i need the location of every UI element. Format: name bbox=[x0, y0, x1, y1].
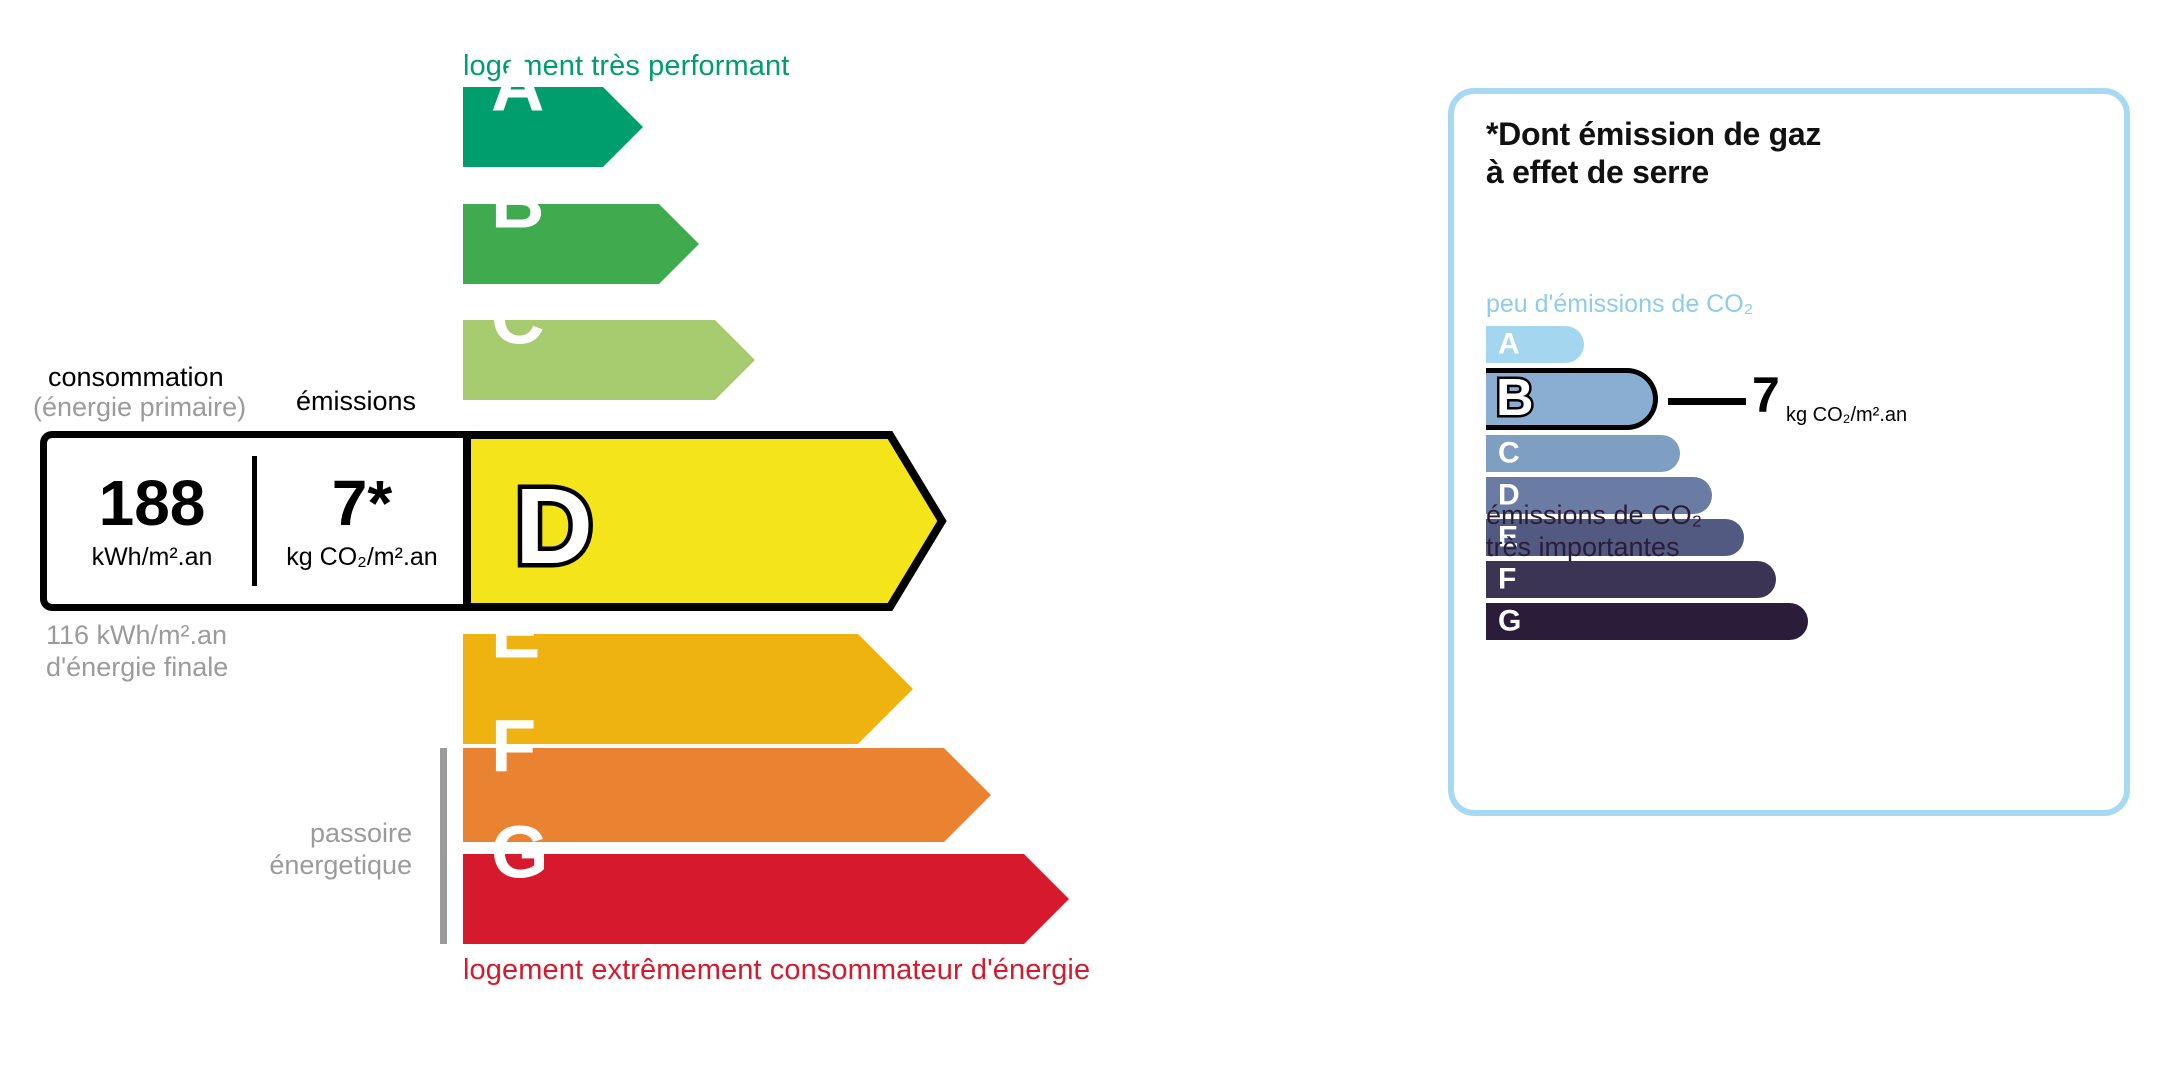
consumption-unit: kWh/m².an bbox=[92, 543, 213, 572]
co2-letter-g: G bbox=[1498, 606, 1521, 636]
consumption-label: consommation bbox=[48, 362, 224, 393]
emissions-unit: kg CO₂/m².an bbox=[286, 543, 437, 572]
primary-energy-label: (énergie primaire) bbox=[33, 392, 246, 423]
co2-title-line1: *Dont émission de gaz bbox=[1486, 116, 1821, 154]
band-d-arrow-shape: D bbox=[463, 431, 950, 611]
band-a-arrow-shape bbox=[463, 87, 643, 167]
band-a-letter: A bbox=[491, 49, 544, 123]
co2-letter-f: F bbox=[1498, 564, 1516, 594]
emissions-value: 7* bbox=[332, 471, 393, 535]
co2-value: 7 bbox=[1752, 370, 1780, 420]
band-g-letter: G bbox=[491, 816, 549, 890]
final-energy-line2: d'énergie finale bbox=[46, 652, 228, 684]
passoire-label-line2: énergetique bbox=[0, 850, 412, 882]
co2-bar-g bbox=[1486, 603, 1808, 640]
co2-value-unit: kg CO₂/m².an bbox=[1786, 404, 1907, 427]
consumption-value-cell: 188 kWh/m².an bbox=[47, 438, 257, 604]
emissions-label: émissions bbox=[296, 386, 416, 417]
co2-bottom-caption: émissions de CO₂ très importantes bbox=[1486, 500, 1702, 564]
energy-performance-scale: logement très performant A B C E F bbox=[0, 0, 1400, 1079]
selected-class-row: 188 kWh/m².an 7* kg CO₂/m².an D bbox=[40, 431, 950, 611]
co2-top-caption: peu d'émissions de CO₂ bbox=[1486, 290, 1753, 319]
final-energy-note: 116 kWh/m².an d'énergie finale bbox=[46, 620, 228, 684]
co2-letter-c: C bbox=[1498, 438, 1520, 468]
band-b-letter: B bbox=[491, 166, 544, 240]
band-f-letter: F bbox=[491, 710, 536, 784]
consumption-value: 188 bbox=[99, 471, 206, 535]
co2-emissions-panel: *Dont émission de gaz à effet de serre p… bbox=[1448, 88, 2130, 816]
co2-title-line2: à effet de serre bbox=[1486, 154, 1821, 192]
value-box: 188 kWh/m².an 7* kg CO₂/m².an bbox=[40, 431, 467, 611]
co2-leader-line bbox=[1668, 398, 1746, 405]
co2-letter-b: B bbox=[1496, 372, 1534, 424]
passoire-label: passoire énergetique bbox=[0, 818, 412, 882]
band-g-arrow-shape bbox=[463, 854, 1069, 944]
passoire-label-line1: passoire bbox=[0, 818, 412, 850]
emissions-value-cell: 7* kg CO₂/m².an bbox=[257, 438, 467, 604]
co2-bottom-caption-line2: très importantes bbox=[1486, 532, 1702, 564]
band-d-letter: D bbox=[515, 465, 593, 586]
co2-letter-a: A bbox=[1498, 329, 1520, 359]
band-c-letter: C bbox=[491, 282, 544, 356]
scale-bottom-caption: logement extrêmement consommateur d'éner… bbox=[463, 954, 1090, 987]
co2-bar-f bbox=[1486, 561, 1776, 598]
co2-panel-title: *Dont émission de gaz à effet de serre bbox=[1486, 116, 1821, 192]
final-energy-line1: 116 kWh/m².an bbox=[46, 620, 228, 652]
passoire-divider-bar bbox=[440, 748, 447, 944]
co2-bottom-caption-line1: émissions de CO₂ bbox=[1486, 500, 1702, 532]
